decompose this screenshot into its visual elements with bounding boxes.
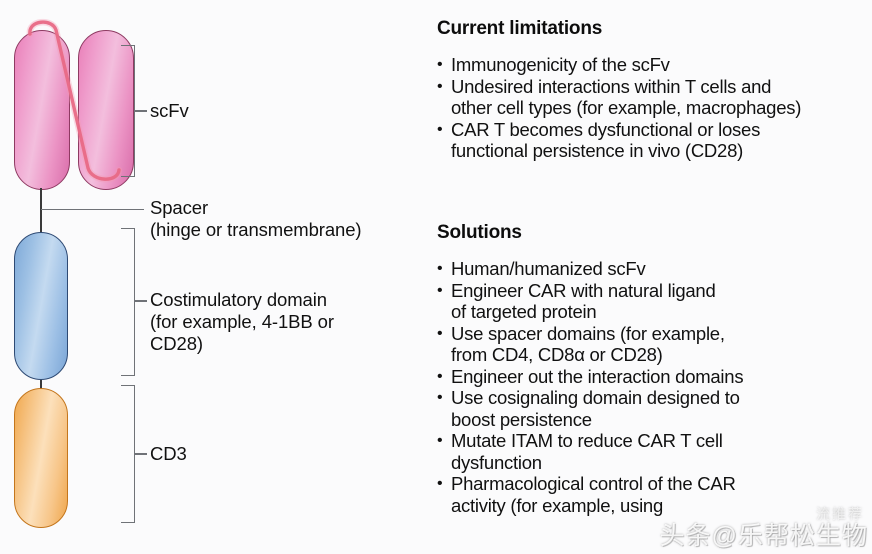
- car-receptor-diagram: scFv Spacer (hinge or transmembrane) Cos…: [0, 0, 430, 554]
- spacer-leader-line: [41, 209, 144, 210]
- costimulatory-sublabel: (for example, 4-1BB or: [150, 311, 334, 333]
- list-item: Human/humanized scFv: [437, 258, 743, 280]
- list-item: Engineer out the interaction domains: [437, 366, 743, 388]
- costimulatory-bracket: [121, 228, 135, 376]
- limitations-heading: Current limitations: [437, 18, 801, 40]
- cd3-domain: [14, 388, 68, 528]
- scfv-label: scFv: [150, 100, 189, 122]
- limitations-block: Current limitations Immunogenicity of th…: [437, 18, 801, 162]
- cd3-bracket-tick: [135, 453, 147, 455]
- solutions-list: Human/humanized scFvEngineer CAR with na…: [437, 258, 743, 516]
- figure-canvas: scFv Spacer (hinge or transmembrane) Cos…: [0, 0, 872, 554]
- costimulatory-sublabel-2: CD28): [150, 333, 203, 355]
- list-item: Use spacer domains (for example,from CD4…: [437, 323, 743, 366]
- costimulatory-domain: [14, 232, 68, 380]
- list-item: Immunogenicity of the scFv: [437, 54, 801, 76]
- solutions-block: Solutions Human/humanized scFvEngineer C…: [437, 222, 743, 516]
- list-item: Mutate ITAM to reduce CAR T celldysfunct…: [437, 430, 743, 473]
- costimulatory-label: Costimulatory domain: [150, 289, 327, 311]
- list-item: Undesired interactions within T cells an…: [437, 76, 801, 119]
- spacer-stem: [40, 188, 42, 234]
- costimulatory-bracket-tick: [135, 300, 147, 302]
- cd3-label: CD3: [150, 443, 187, 465]
- list-item: Engineer CAR with natural ligandof targe…: [437, 280, 743, 323]
- list-item: CAR T becomes dysfunctional or losesfunc…: [437, 119, 801, 162]
- spacer-label: Spacer: [150, 197, 208, 219]
- spacer-sublabel: (hinge or transmembrane): [150, 219, 361, 241]
- cd3-bracket: [121, 385, 135, 523]
- scfv-bracket-tick: [135, 110, 147, 112]
- limitations-list: Immunogenicity of the scFvUndesired inte…: [437, 54, 801, 162]
- list-item: Use cosignaling domain designed toboost …: [437, 387, 743, 430]
- scfv-bracket: [121, 45, 135, 177]
- annotations-panel: Current limitations Immunogenicity of th…: [437, 0, 872, 554]
- list-item: Pharmacological control of the CARactivi…: [437, 473, 743, 516]
- solutions-heading: Solutions: [437, 222, 743, 244]
